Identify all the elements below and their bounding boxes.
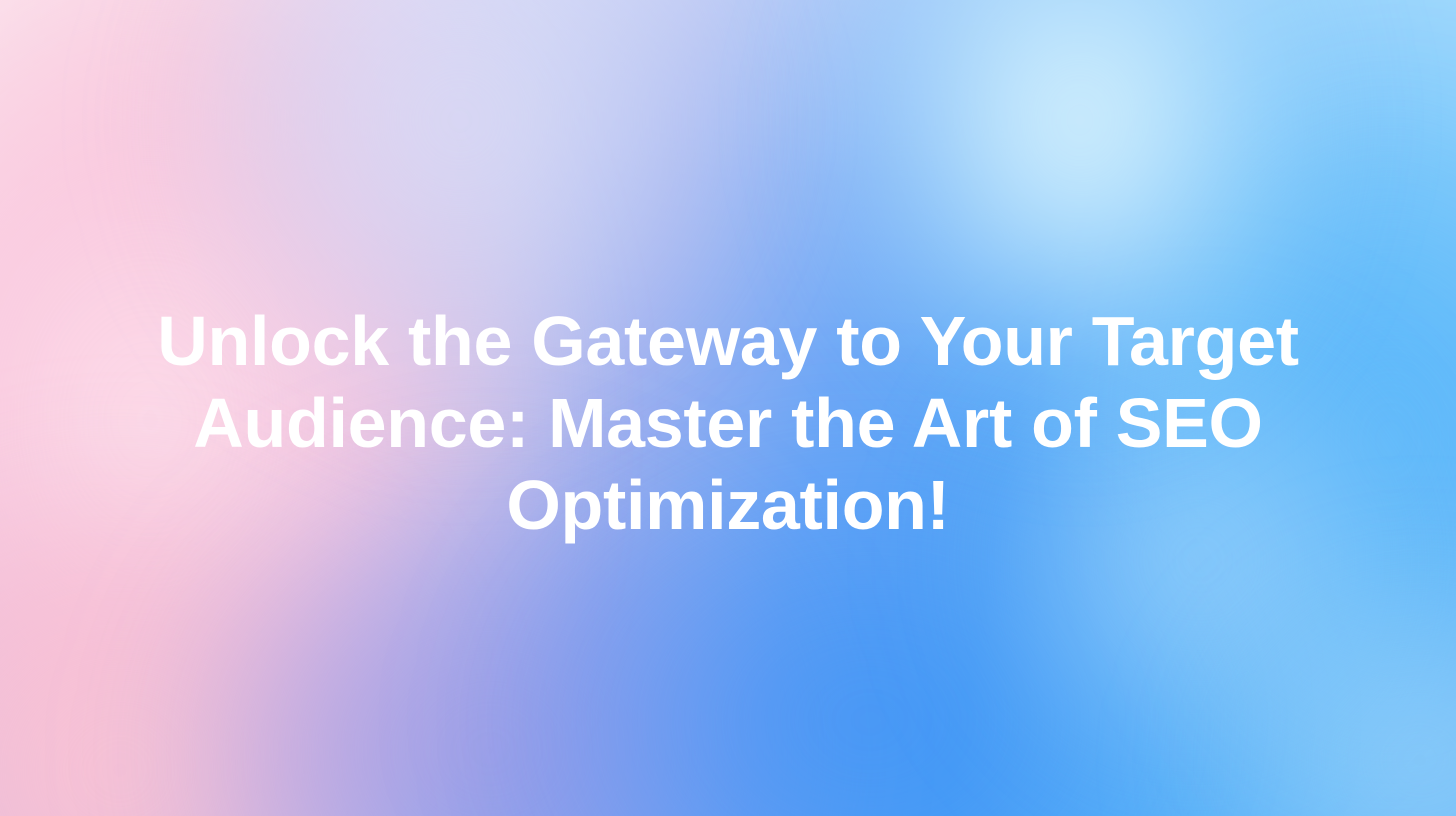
gradient-blob-lightblue-bottom-right (1180, 540, 1456, 816)
page-title: Unlock the Gateway to Your Target Audien… (128, 300, 1328, 546)
headline-container: Unlock the Gateway to Your Target Audien… (0, 300, 1456, 546)
hero-canvas: Unlock the Gateway to Your Target Audien… (0, 0, 1456, 816)
